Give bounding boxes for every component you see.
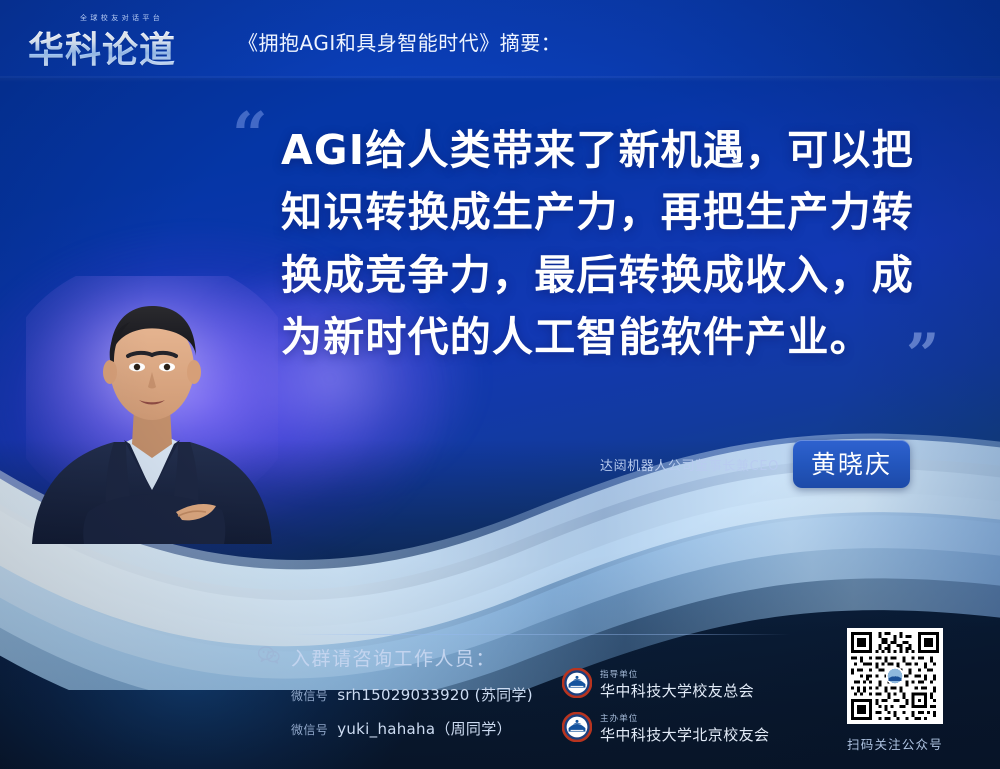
organization-row: 主办单位 华中科技大学北京校友会 [562,712,769,747]
brand-logo: 全球校友对话平台 华科论道 [28,11,210,67]
organization-text: 主办单位 华中科技大学北京校友会 [600,715,769,743]
quote-line: 换成竞争力，最后转换成收入，成 [281,244,941,306]
organization-name: 华中科技大学北京校友会 [600,727,769,744]
quote-line: 为新时代的人工智能软件产业。 [281,306,941,368]
quote-open-mark: “ [232,104,268,166]
organization-row: 指导单位 华中科技大学校友总会 [562,668,769,703]
organization-text: 指导单位 华中科技大学校友总会 [600,671,754,699]
contact-label: 微信号 [291,687,328,704]
qr-caption: 扫码关注公众号 [838,734,952,753]
organization-name: 华中科技大学校友总会 [600,683,754,700]
organization-kind: 指导单位 [600,671,754,681]
quote-line: 知识转换成生产力，再把生产力转 [281,181,941,243]
quote-line: AGI给人类带来了新机遇，可以把 [281,119,941,181]
organization-kind: 主办单位 [600,715,769,725]
attribution: 达闼机器人公司董事长兼CEO 黄晓庆 [600,440,910,488]
logo-wordmark: 华科论道 [28,21,176,73]
speaker-role: 达闼机器人公司董事长兼CEO [600,455,779,474]
hust-alumni-seal-icon [562,668,592,703]
hust-beijing-alumni-seal-icon [562,712,592,747]
organizations-block: 指导单位 华中科技大学校友总会 主办单位 华中科技大学北京校友会 [562,668,769,747]
footer-heading-row: 入群请咨询工作人员： [258,644,818,671]
footer-title: 入群请咨询工作人员： [291,644,496,671]
contact-label: 微信号 [291,721,328,738]
page-title: 《拥抱AGI和具身智能时代》摘要： [238,27,561,56]
qr-code-icon[interactable] [847,628,943,724]
qr-block: 扫码关注公众号 [838,628,952,753]
speaker-name-badge: 黄晓庆 [793,440,910,488]
quote-close-mark: ” [906,326,939,384]
wechat-icon [258,646,280,669]
poster-root: 全球校友对话平台 华科论道 《拥抱AGI和具身智能时代》摘要： “ AGI给人类… [0,0,1000,769]
contact-value[interactable]: srh15029033920 (苏同学) [337,684,533,705]
contact-value[interactable]: yuki_hahaha（周同学） [337,718,512,739]
header: 全球校友对话平台 华科论道 《拥抱AGI和具身智能时代》摘要： [0,0,1000,78]
footer-divider [290,634,790,635]
quote-text: AGI给人类带来了新机遇，可以把 知识转换成生产力，再把生产力转 换成竞争力，最… [281,119,941,368]
